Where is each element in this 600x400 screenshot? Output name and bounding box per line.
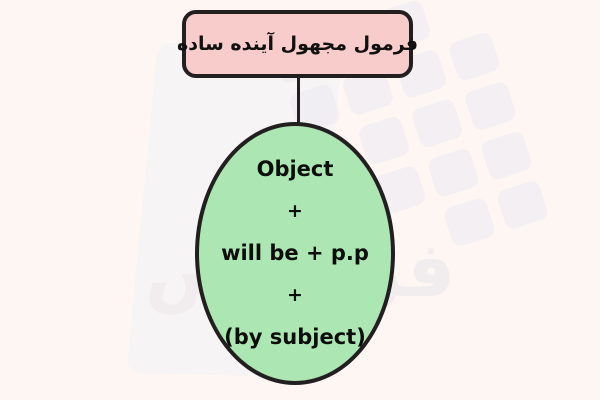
decorative-tile bbox=[496, 179, 550, 231]
diagram-canvas: فرادرس فرمول مجهول آینده ساده Object + w… bbox=[0, 0, 600, 400]
connector-line bbox=[297, 76, 300, 126]
title-box-label: فرمول مجهول آینده ساده bbox=[177, 33, 418, 55]
decorative-tile bbox=[410, 97, 464, 149]
formula-line-will-be-pp: will be + p.p bbox=[221, 243, 369, 264]
formula-line-plus-second: + bbox=[287, 286, 303, 305]
formula-line-object: Object bbox=[257, 159, 334, 180]
decorative-tile bbox=[447, 31, 501, 83]
formula-line-by-subject: (by subject) bbox=[224, 327, 366, 348]
title-box: فرمول مجهول آینده ساده bbox=[182, 10, 413, 78]
formula-line-plus-first: + bbox=[287, 202, 303, 221]
decorative-tile bbox=[479, 130, 533, 182]
formula-ellipse: Object + will be + p.p + (by subject) bbox=[195, 122, 395, 385]
decorative-tile bbox=[463, 80, 517, 132]
decorative-tile bbox=[442, 196, 496, 248]
decorative-tile bbox=[426, 147, 480, 199]
